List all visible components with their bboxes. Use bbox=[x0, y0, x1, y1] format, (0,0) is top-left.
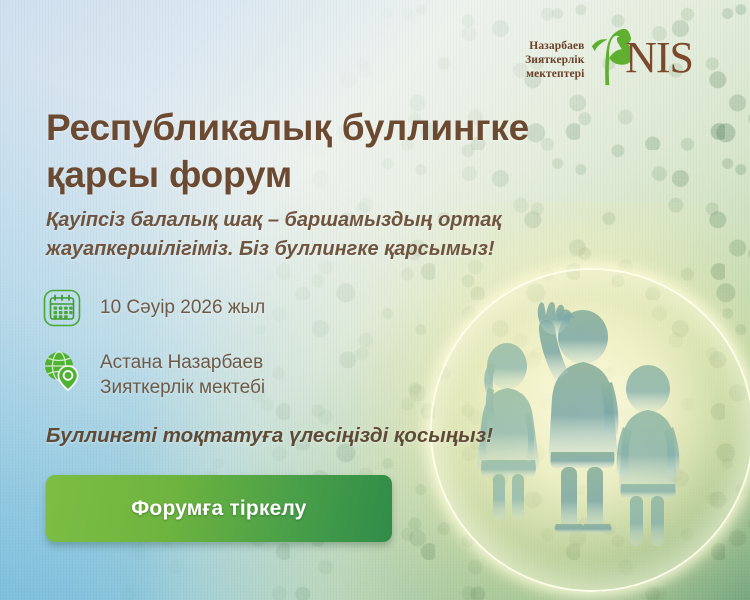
globe-location-pin-icon bbox=[40, 348, 84, 392]
event-banner: Назарбаев Зияткерлік мектептері NIS Респ… bbox=[0, 0, 750, 600]
logo-wordmark: Назарбаев Зияткерлік мектептері bbox=[503, 39, 584, 81]
calendar-icon bbox=[40, 286, 84, 330]
register-for-forum-button[interactable]: Форумға тіркелу bbox=[46, 475, 392, 542]
small-boy-silhouette bbox=[617, 365, 680, 546]
subtitle: Қауіпсіз балалық шақ – баршамыздың ортақ… bbox=[46, 206, 566, 264]
event-location-row: Астана Назарбаев Зияткерлік мектебі bbox=[40, 348, 265, 400]
logo-abbreviation: NIS bbox=[625, 36, 693, 80]
logo-line-1: Назарбаев bbox=[503, 39, 584, 53]
event-date-text: 10 Сәуір 2026 жыл bbox=[100, 295, 265, 320]
nis-logo: Назарбаев Зияткерлік мектептері NIS bbox=[503, 20, 693, 90]
logo-line-2: Зияткерлік bbox=[503, 53, 584, 67]
logo-line-3: мектептері bbox=[503, 67, 584, 81]
boy-waving-silhouette bbox=[538, 302, 619, 533]
event-location-text: Астана Назарбаев Зияткерлік мектебі bbox=[100, 348, 265, 400]
event-location-line-2: Зияткерлік мектебі bbox=[100, 375, 265, 400]
event-location-line-1: Астана Назарбаев bbox=[100, 350, 265, 375]
call-to-action-text: Буллингті тоқтатуға үлесіңізді қосыңыз! bbox=[46, 424, 493, 448]
page-title: Республикалық буллингке қарсы форум bbox=[46, 104, 646, 199]
event-date-row: 10 Сәуір 2026 жыл bbox=[40, 286, 265, 330]
